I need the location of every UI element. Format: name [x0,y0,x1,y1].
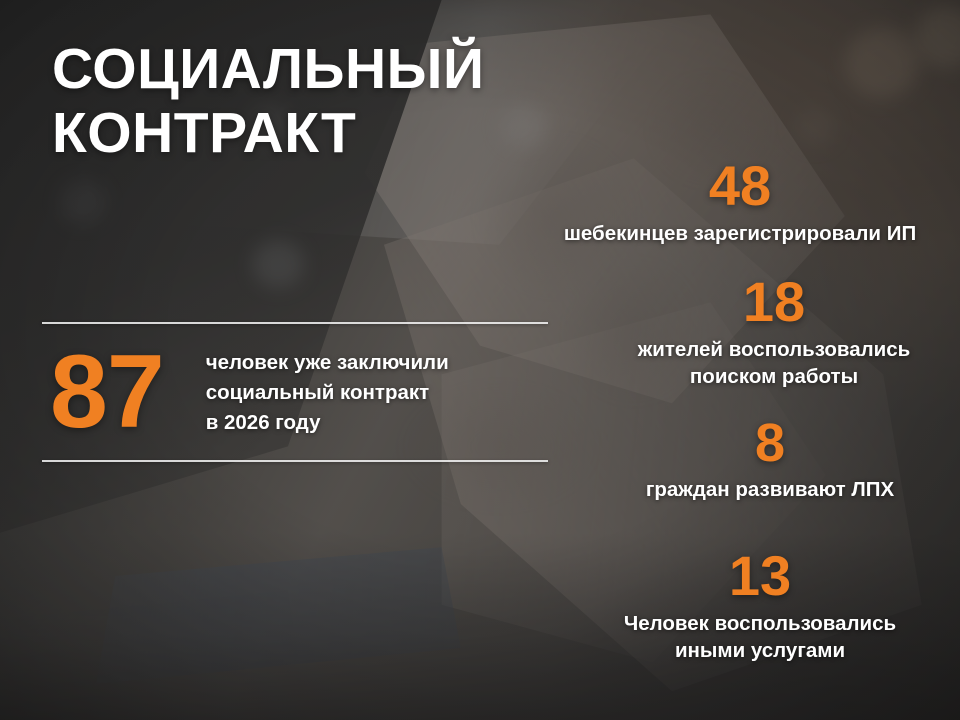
featured-stat-body: 87 человек уже заключили социальный конт… [42,324,548,460]
stat-caption-ip-line-1: шебекинцев зарегистрировали ИП [518,220,960,247]
stat-caption-job-search-line-1: жителей воспользовались [588,336,960,363]
featured-stat-number: 87 [50,345,164,441]
stat-caption-other-services-line-2: иными услугами [560,637,960,664]
stat-number-job-search: 18 [588,274,960,330]
stat-block-ip: 48 шебекинцев зарегистрировали ИП [518,158,960,247]
stat-number-other-services: 13 [560,548,960,604]
stat-caption-ip: шебекинцев зарегистрировали ИП [518,220,960,247]
stat-number-lph: 8 [580,416,960,470]
stat-block-other-services: 13 Человек воспользовались иными услугам… [560,548,960,664]
featured-stat-caption-line-3: в 2026 году [206,408,449,438]
stat-caption-job-search-line-2: поиском работы [588,363,960,390]
stat-caption-lph-line-1: граждан развивают ЛПХ [580,476,960,503]
stat-caption-other-services: Человек воспользовались иными услугами [560,610,960,664]
stat-caption-lph: граждан развивают ЛПХ [580,476,960,503]
infographic-poster: СОЦИАЛЬНЫЙ КОНТРАКТ 87 человек уже заклю… [0,0,960,720]
stat-caption-job-search: жителей воспользовались поиском работы [588,336,960,390]
page-title-line-2: КОНТРАКТ [52,102,612,166]
poster-content: СОЦИАЛЬНЫЙ КОНТРАКТ 87 человек уже заклю… [0,0,960,720]
featured-stat-caption-line-1: человек уже заключили [206,348,449,378]
stat-number-ip: 48 [518,158,960,214]
page-title-line-1: СОЦИАЛЬНЫЙ [52,38,612,102]
stat-block-lph: 8 граждан развивают ЛПХ [580,416,960,503]
featured-stat-caption: человек уже заключили социальный контрак… [206,348,449,437]
featured-stat-caption-line-2: социальный контракт [206,378,449,408]
stat-block-job-search: 18 жителей воспользовались поиском работ… [588,274,960,390]
page-title: СОЦИАЛЬНЫЙ КОНТРАКТ [52,38,612,166]
stat-caption-other-services-line-1: Человек воспользовались [560,610,960,637]
divider-bottom [42,460,548,462]
featured-stat-block: 87 человек уже заключили социальный конт… [42,322,548,462]
